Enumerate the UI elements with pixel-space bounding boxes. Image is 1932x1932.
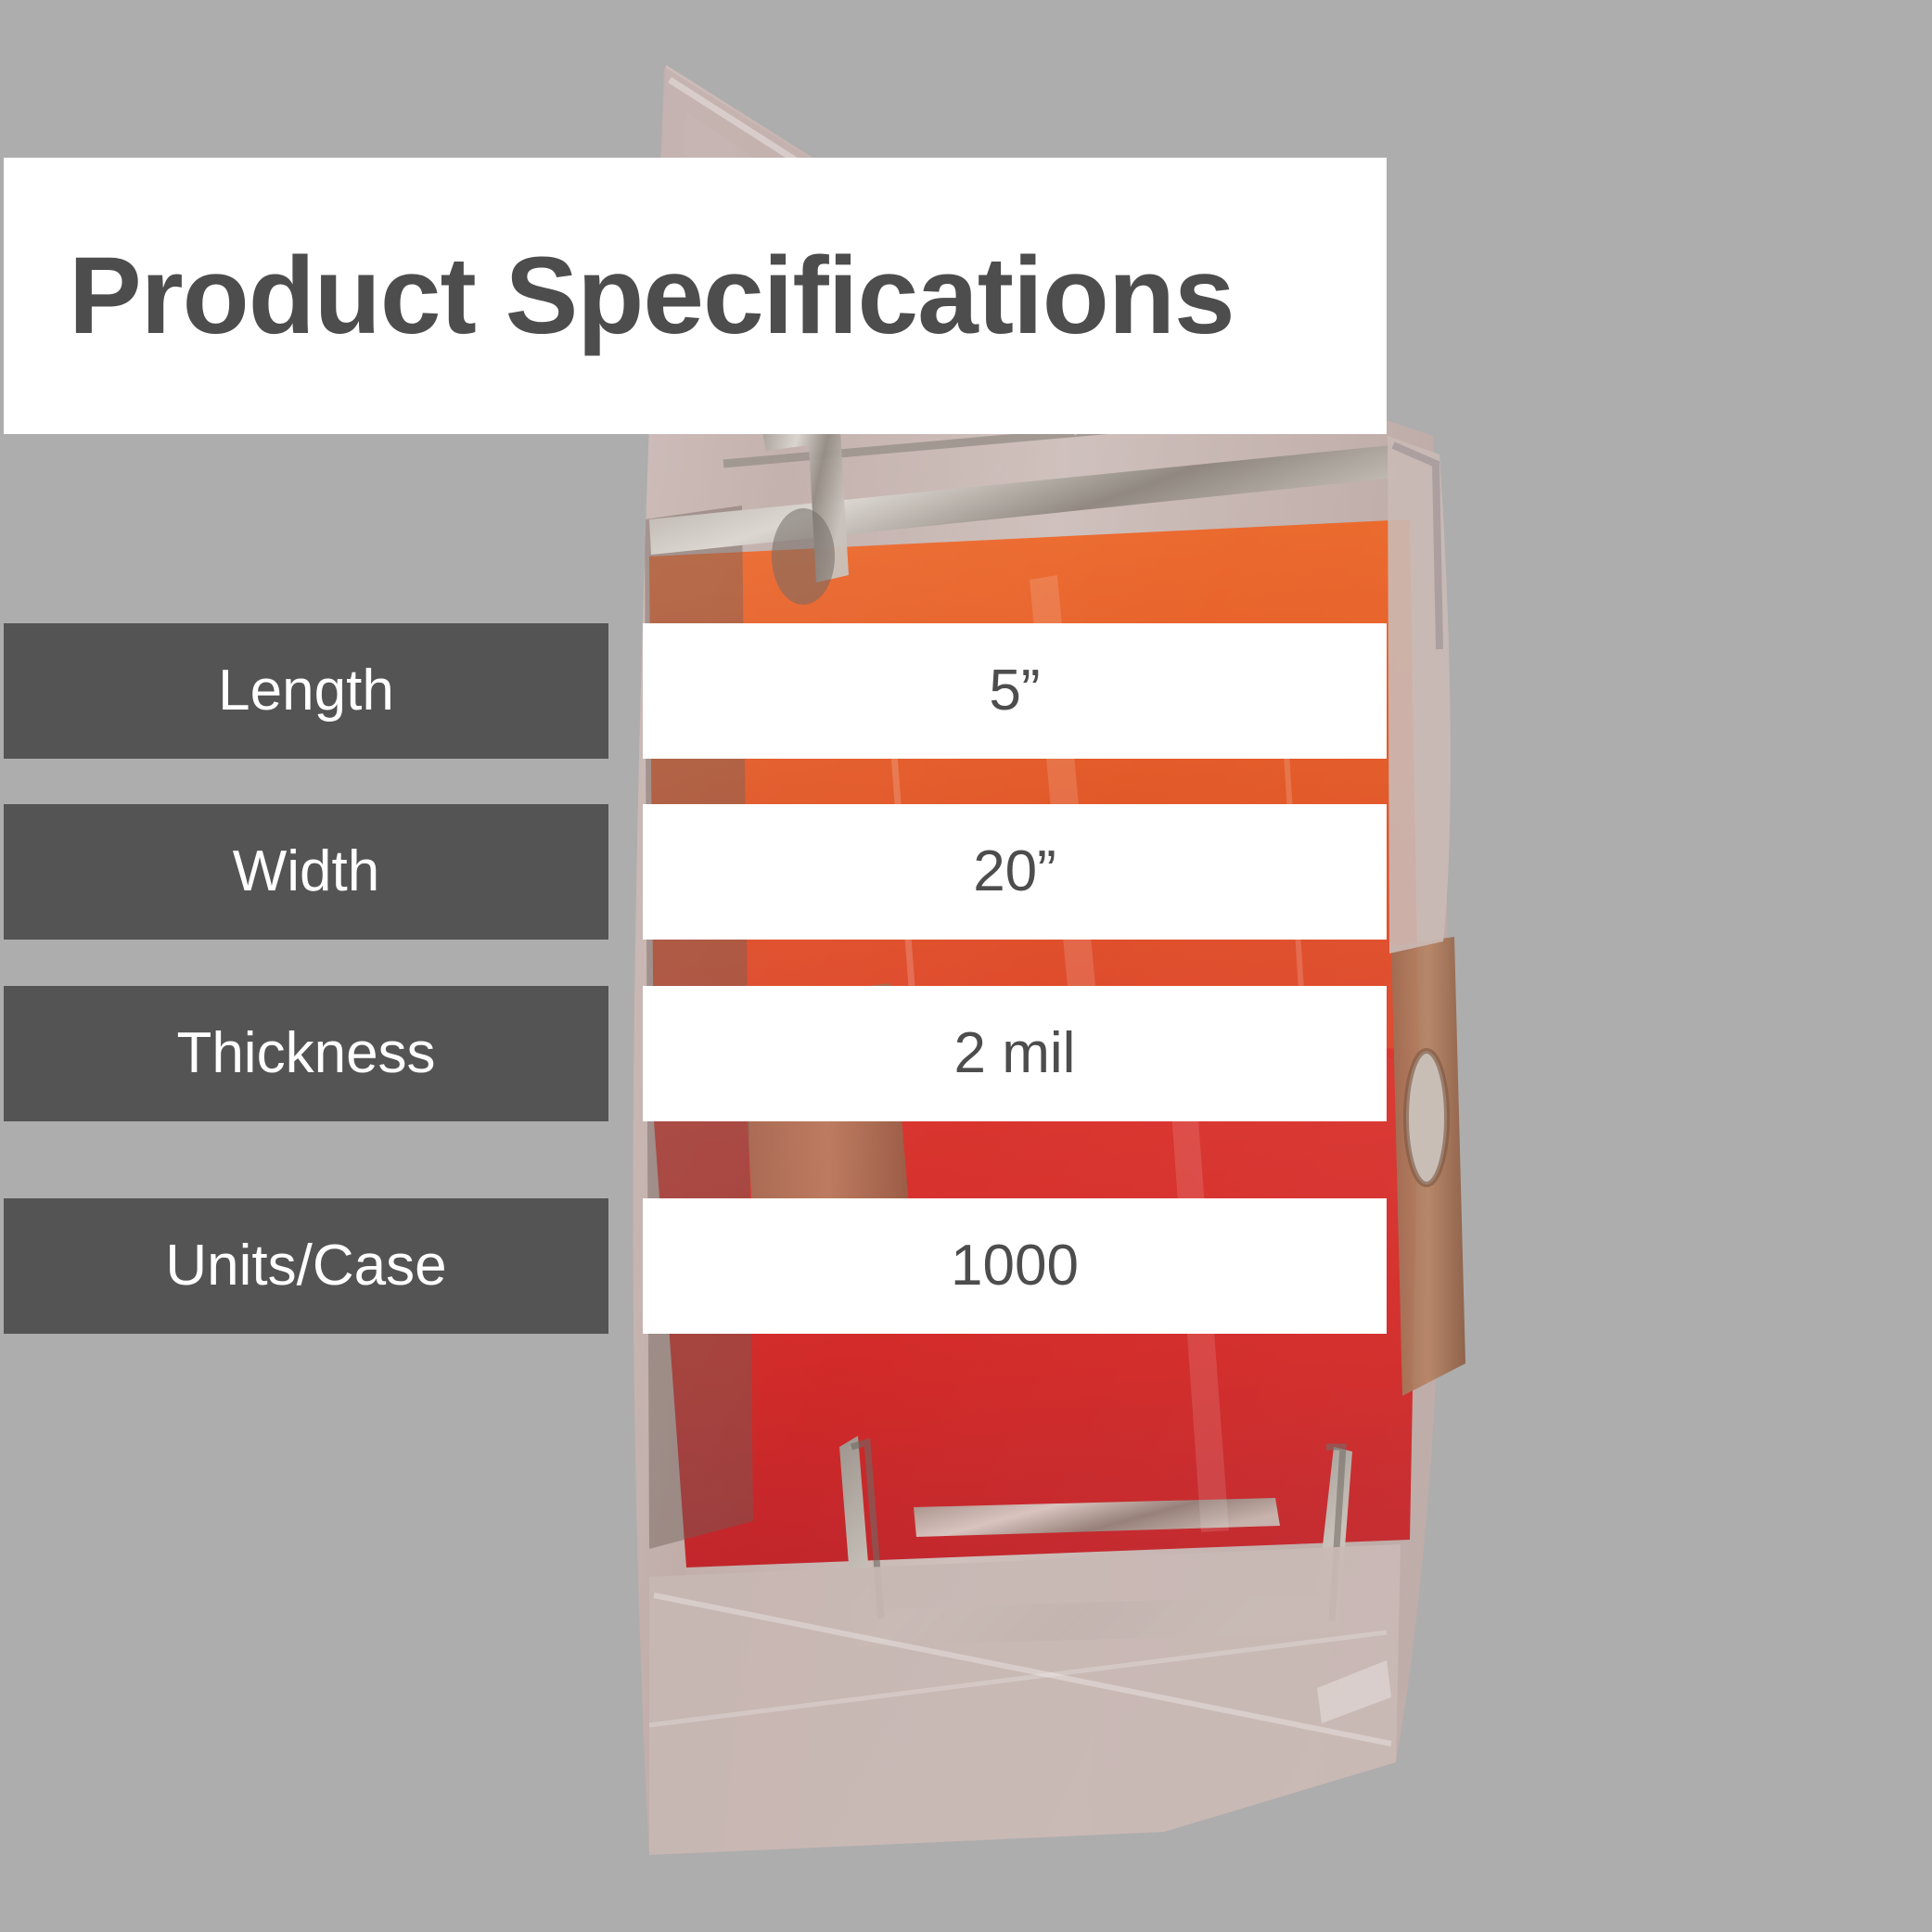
spec-label-width: Width bbox=[4, 804, 608, 940]
spec-label-text: Units/Case bbox=[165, 1237, 446, 1295]
infographic-canvas: Product Specifications Length 5” Width 2… bbox=[0, 0, 1932, 1932]
spec-label-text: Width bbox=[233, 843, 379, 901]
spec-label-text: Thickness bbox=[176, 1025, 435, 1082]
hang-tab bbox=[1391, 937, 1465, 1396]
spec-label-length: Length bbox=[4, 623, 608, 759]
title-banner: Product Specifications bbox=[4, 158, 1387, 434]
spec-value-text: 1000 bbox=[951, 1237, 1079, 1295]
spec-value-units-per-case: 1000 bbox=[643, 1198, 1387, 1334]
spec-label-thickness: Thickness bbox=[4, 986, 608, 1121]
page-title: Product Specifications bbox=[4, 241, 1235, 351]
spec-value-text: 20” bbox=[973, 843, 1056, 901]
spec-label-text: Length bbox=[218, 662, 394, 720]
spec-value-text: 2 mil bbox=[954, 1025, 1076, 1082]
spec-value-width: 20” bbox=[643, 804, 1387, 940]
bag-right-shoulder bbox=[1388, 436, 1451, 953]
spec-value-length: 5” bbox=[643, 623, 1387, 759]
spec-value-thickness: 2 mil bbox=[643, 986, 1387, 1121]
spec-label-units-per-case: Units/Case bbox=[4, 1198, 608, 1334]
spec-value-text: 5” bbox=[989, 662, 1040, 720]
